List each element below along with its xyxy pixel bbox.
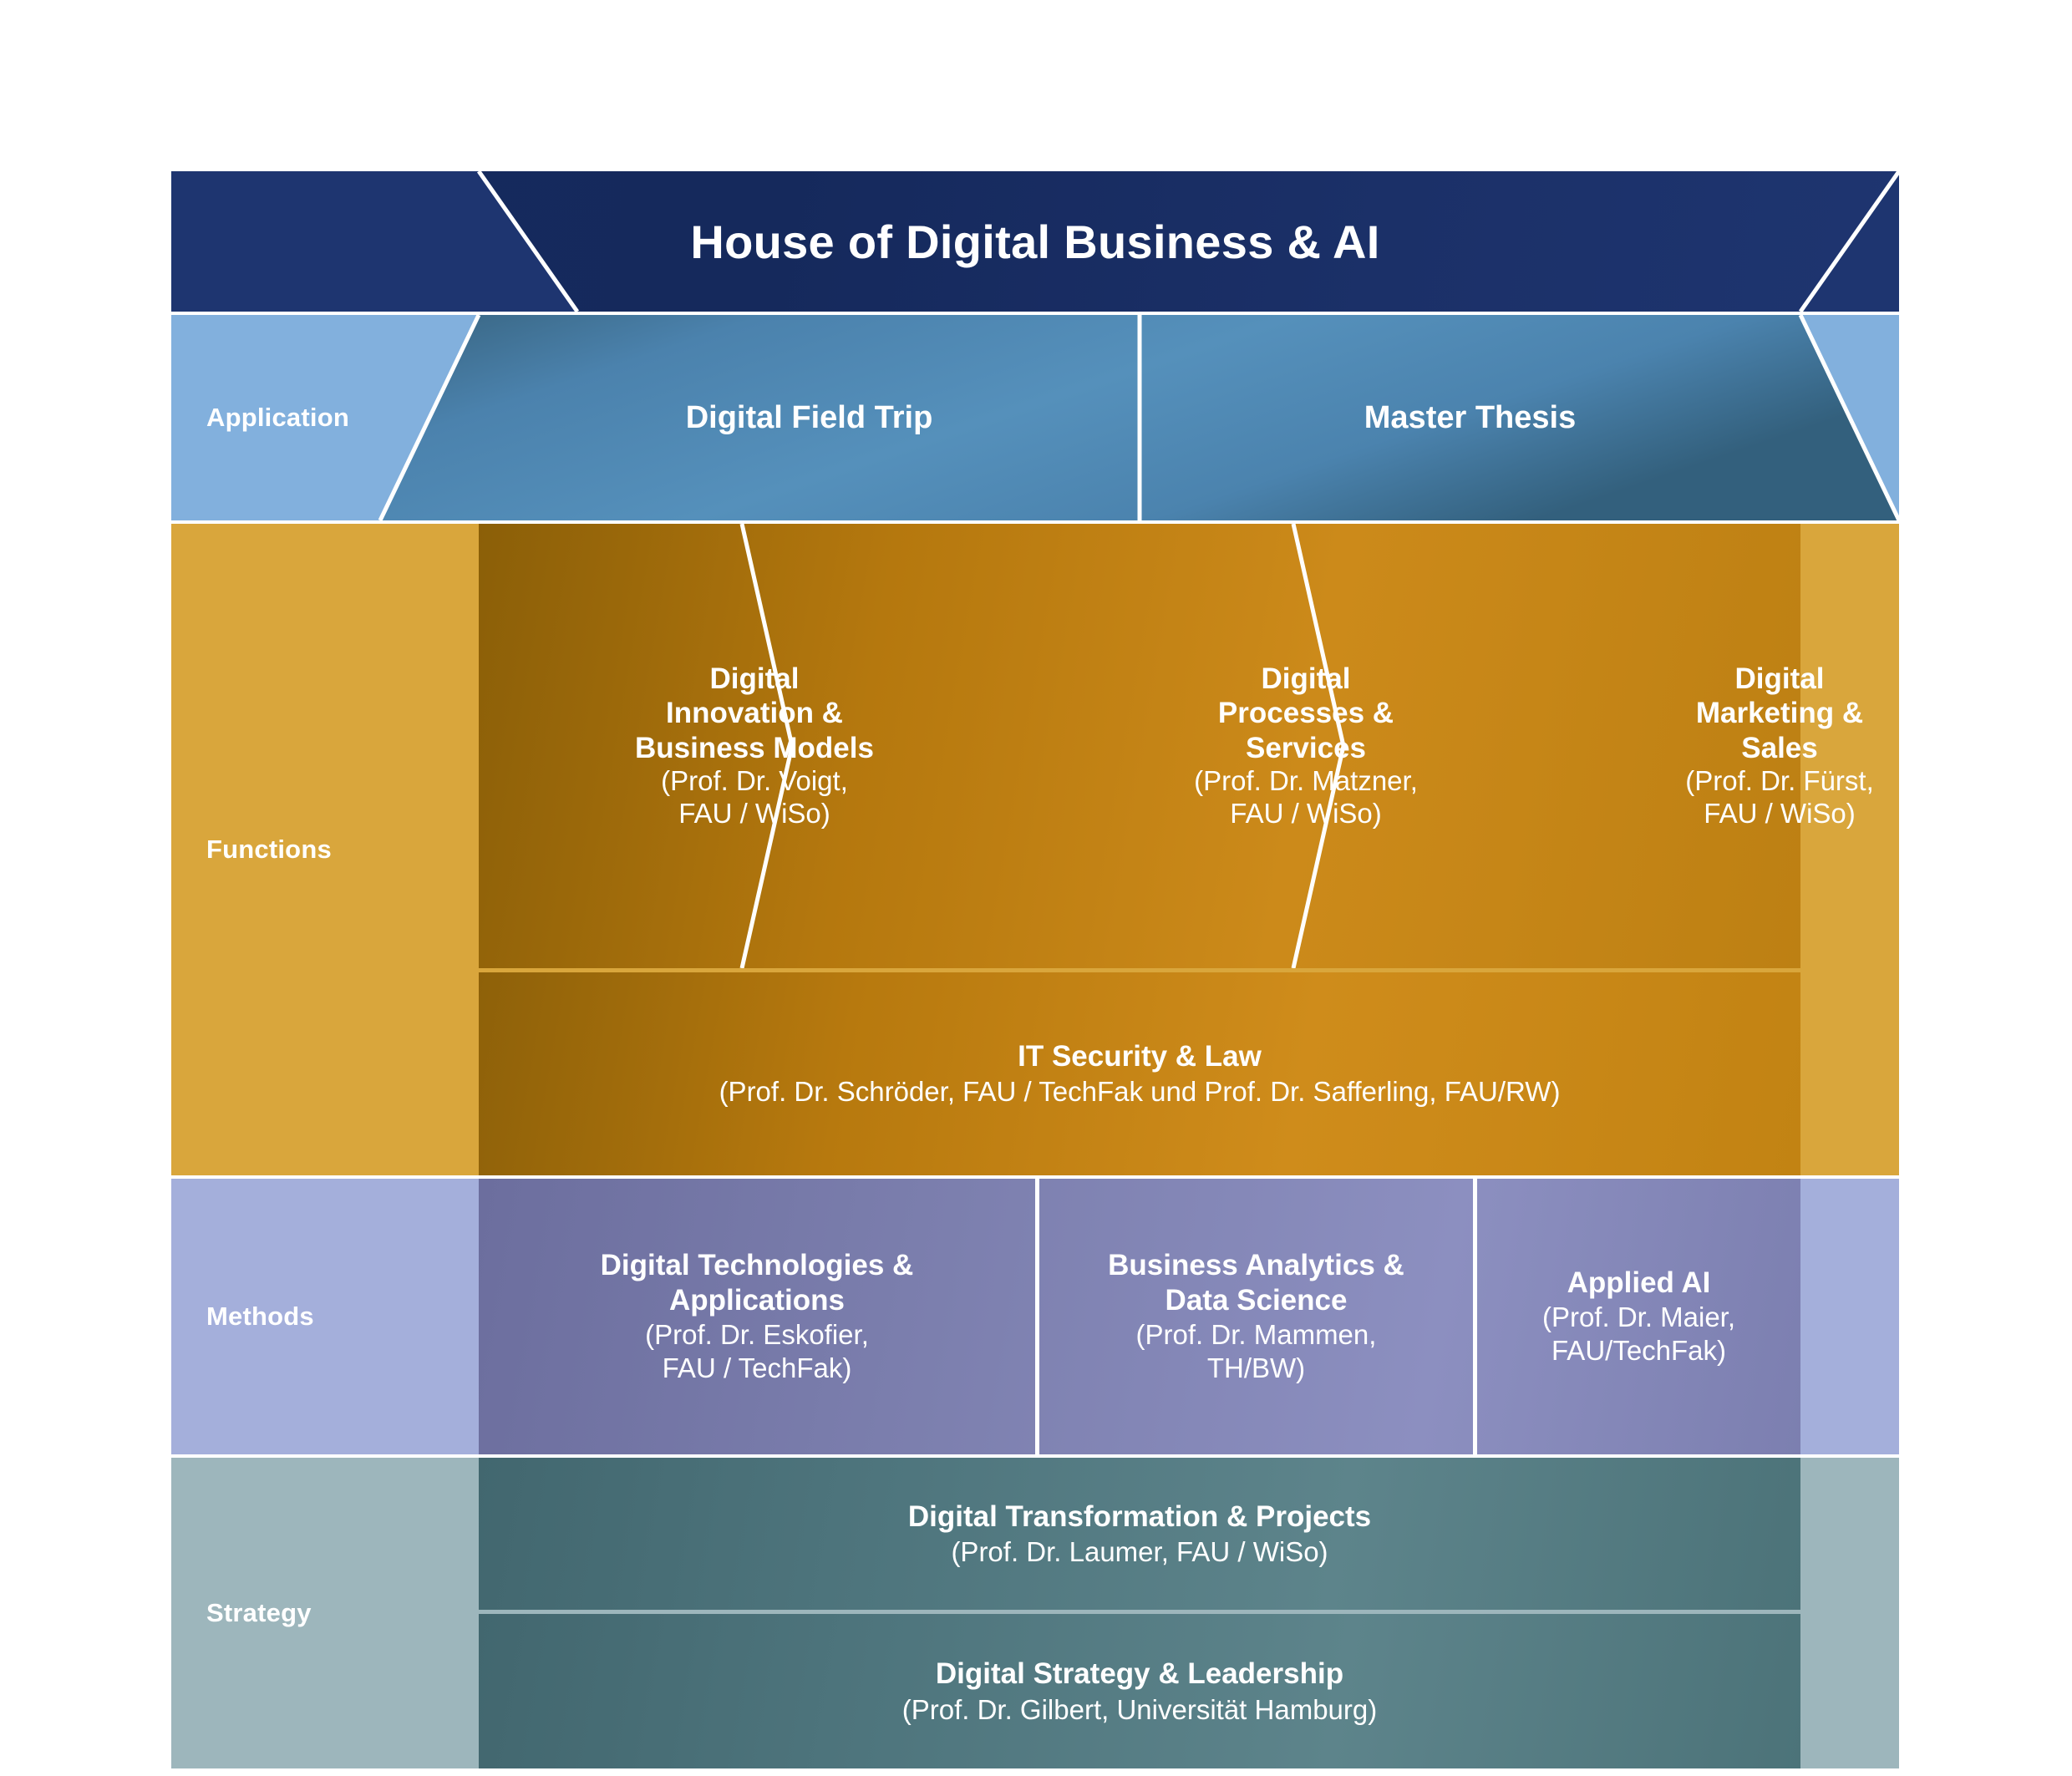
methods-cell-business-analytics[interactable]: Business Analytics & Data Science (Prof.…: [1039, 1179, 1473, 1454]
strategy-cell-digital-strategy[interactable]: Digital Strategy & Leadership (Prof. Dr.…: [479, 1614, 1800, 1768]
strategy-cell-digital-transformation[interactable]: Digital Transformation & Projects (Prof.…: [479, 1458, 1800, 1610]
methods-cell-3-sub-2: FAU/TechFak): [1551, 1334, 1726, 1368]
methods-cell-1-sub-1: (Prof. Dr. Eskofier,: [645, 1318, 869, 1352]
methods-cell-3-line-1: Applied AI: [1567, 1266, 1711, 1301]
methods-cell-2-sub-1: (Prof. Dr. Mammen,: [1136, 1318, 1377, 1352]
layer-label-application-text: Application: [206, 403, 349, 433]
functions-cell-2-line-1: Digital: [1262, 662, 1351, 696]
methods-cell-1-sub-2: FAU / TechFak): [663, 1352, 852, 1385]
methods-layer: Methods Digital Technologies & Applicati…: [171, 1179, 1899, 1454]
application-cell-2-label: Master Thesis: [1364, 400, 1576, 436]
application-layer: Application Digital Field Trip Master Th…: [171, 315, 1899, 520]
functions-cell-1-line-3: Business Models: [635, 731, 874, 765]
strategy-cell-1-sub: (Prof. Dr. Laumer, FAU / WiSo): [951, 1535, 1328, 1569]
layer-label-application: Application: [171, 315, 479, 520]
methods-divider-1: [1035, 1179, 1039, 1454]
methods-cell-digital-technologies[interactable]: Digital Technologies & Applications (Pro…: [479, 1179, 1035, 1454]
functions-cell-digital-marketing[interactable]: Digital Marketing & Sales (Prof. Dr. Für…: [1583, 524, 1976, 968]
functions-cell-1-sub-2: FAU / WiSo): [678, 798, 830, 830]
functions-cell-2-line-3: Services: [1246, 731, 1366, 765]
functions-cell-digital-processes[interactable]: Digital Processes & Services (Prof. Dr. …: [1030, 524, 1582, 968]
functions-cell-3-line-1: Digital: [1735, 662, 1825, 696]
application-cell-1-label: Digital Field Trip: [686, 400, 933, 436]
house-of-digital-business-diagram: House of Digital Business & AI Applicati…: [171, 171, 1899, 1601]
strategy-cell-1-heading: Digital Transformation & Projects: [908, 1499, 1371, 1535]
strategy-cell-2-sub: (Prof. Dr. Gilbert, Universität Hamburg): [902, 1692, 1377, 1727]
layer-label-methods: Methods: [171, 1179, 479, 1454]
application-cell-digital-field-trip[interactable]: Digital Field Trip: [479, 315, 1140, 520]
functions-cell-2-sub-1: (Prof. Dr. Matzner,: [1194, 765, 1418, 798]
methods-cell-2-line-1: Business Analytics &: [1108, 1248, 1404, 1283]
functions-cell-3-sub-2: FAU / WiSo): [1704, 798, 1856, 830]
methods-cell-1-line-2: Applications: [669, 1283, 845, 1318]
functions-cell-3-sub-1: (Prof. Dr. Fürst,: [1685, 765, 1874, 798]
strategy-cell-2-heading: Digital Strategy & Leadership: [936, 1656, 1343, 1692]
methods-divider-2: [1473, 1179, 1477, 1454]
layer-label-methods-text: Methods: [206, 1302, 314, 1332]
layer-label-strategy: Strategy: [171, 1458, 479, 1768]
roof-band: House of Digital Business & AI: [171, 171, 1899, 312]
functions-wide-sub: (Prof. Dr. Schröder, FAU / TechFak und P…: [719, 1075, 1561, 1109]
functions-cell-2-line-2: Processes &: [1218, 696, 1394, 730]
functions-cell-digital-innovation[interactable]: Digital Innovation & Business Models (Pr…: [479, 524, 1030, 968]
methods-cell-2-line-2: Data Science: [1165, 1283, 1348, 1318]
layer-label-functions-text: Functions: [206, 835, 332, 865]
layer-label-functions: Functions: [171, 524, 479, 1175]
functions-cell-3-line-2: Marketing &: [1696, 696, 1863, 730]
functions-cell-3-line-3: Sales: [1741, 731, 1817, 765]
functions-wide-heading: IT Security & Law: [1018, 1039, 1262, 1075]
methods-cell-2-sub-2: TH/BW): [1207, 1352, 1305, 1385]
functions-cell-1-sub-1: (Prof. Dr. Voigt,: [661, 765, 848, 798]
functions-cell-2-sub-2: FAU / WiSo): [1230, 798, 1382, 830]
roof-inner-trapezoid: House of Digital Business & AI: [171, 171, 1899, 312]
methods-cell-applied-ai[interactable]: Applied AI (Prof. Dr. Maier, FAU/TechFak…: [1477, 1179, 1800, 1454]
functions-cell-1-line-1: Digital: [710, 662, 800, 696]
strategy-layer: Strategy Digital Transformation & Projec…: [171, 1458, 1899, 1768]
diagram-title: House of Digital Business & AI: [171, 215, 1899, 269]
methods-cell-3-sub-1: (Prof. Dr. Maier,: [1542, 1301, 1735, 1334]
functions-cell-it-security-law[interactable]: IT Security & Law (Prof. Dr. Schröder, F…: [479, 972, 1800, 1175]
methods-cell-1-line-1: Digital Technologies &: [601, 1248, 914, 1283]
functions-layer: Functions Digital Innovation & Business …: [171, 524, 1899, 1175]
functions-cell-1-line-2: Innovation &: [666, 696, 843, 730]
layer-label-strategy-text: Strategy: [206, 1598, 312, 1628]
application-cell-master-thesis[interactable]: Master Thesis: [1140, 315, 1800, 520]
